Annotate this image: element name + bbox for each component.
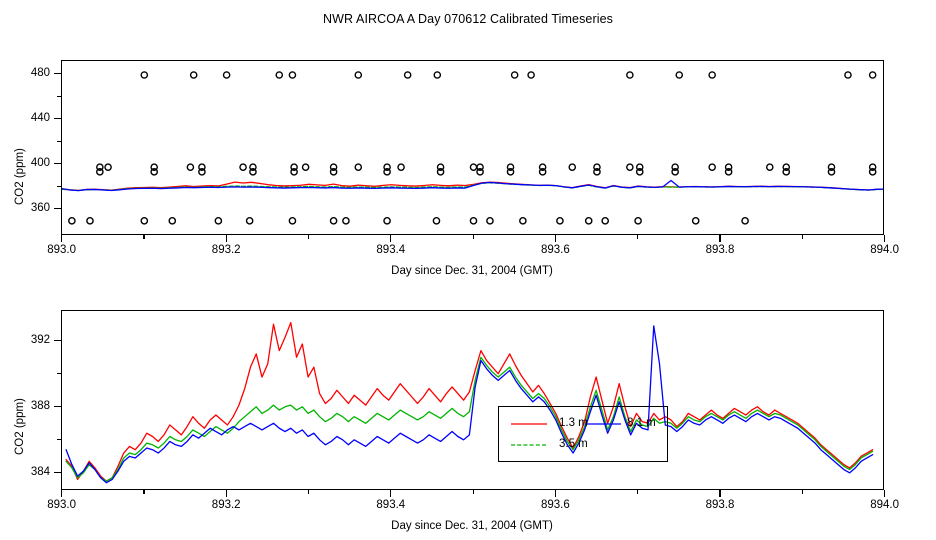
bottom-plot-svg xyxy=(62,311,884,490)
calibration-marker xyxy=(512,72,518,78)
calibration-marker xyxy=(141,218,147,224)
bottom-y-tick-label-388: 388 xyxy=(10,400,50,412)
top-x-tick-minor xyxy=(143,235,144,239)
bottom-x-tick-minor xyxy=(473,490,474,494)
top-y-tick-label-440: 440 xyxy=(10,112,50,124)
bottom-x-tick-label-5: 894.0 xyxy=(855,499,915,511)
calibration-marker xyxy=(602,218,608,224)
legend-label-2: 3.5 m xyxy=(559,438,588,450)
calibration-marker xyxy=(470,218,476,224)
bottom-x-tick-minor xyxy=(143,490,144,494)
top-x-tick-minor xyxy=(802,235,803,239)
legend-label-1: 1.3 m xyxy=(559,417,588,429)
bottom-x-tick-minor xyxy=(802,490,803,494)
calibration-marker xyxy=(69,218,75,224)
top-plot-svg xyxy=(62,61,884,235)
top-x-tick-label-2: 893.4 xyxy=(361,244,421,256)
bottom-x-tick-minor xyxy=(308,490,309,494)
bottom-x-tick-major xyxy=(719,490,720,497)
bottom-x-tick-minor xyxy=(637,490,638,494)
top-y-tick-major xyxy=(54,163,61,164)
calibration-marker xyxy=(247,218,253,224)
bottom-y-tick-major xyxy=(54,406,61,407)
top-x-tick-label-3: 893.6 xyxy=(525,244,585,256)
calibration-marker xyxy=(870,72,876,78)
top-y-tick-major xyxy=(54,118,61,119)
top-x-tick-label-1: 893.2 xyxy=(196,244,256,256)
calibration-marker xyxy=(627,72,633,78)
calibration-marker xyxy=(398,164,404,170)
legend-lines xyxy=(499,407,667,461)
calibration-marker xyxy=(557,218,563,224)
calibration-marker xyxy=(187,164,193,170)
calibration-marker xyxy=(676,72,682,78)
top-y-tick-label-480: 480 xyxy=(10,67,50,79)
calibration-marker xyxy=(709,72,715,78)
calibration-marker xyxy=(303,164,309,170)
top-plot-area xyxy=(61,60,884,235)
calibration-marker xyxy=(355,72,361,78)
bottom-x-tick-label-3: 893.6 xyxy=(525,499,585,511)
calibration-marker xyxy=(405,72,411,78)
bottom-x-tick-label-0: 893.0 xyxy=(32,499,92,511)
calibration-marker xyxy=(586,218,592,224)
bottom-x-tick-label-2: 893.4 xyxy=(361,499,421,511)
calibration-marker xyxy=(141,72,147,78)
calibration-marker xyxy=(384,218,390,224)
top-x-tick-major xyxy=(61,235,62,242)
top-x-tick-major xyxy=(226,235,227,242)
series-line-13m xyxy=(66,323,873,482)
bottom-plot-area xyxy=(61,310,884,490)
top-x-tick-major xyxy=(884,235,885,242)
calibration-marker xyxy=(289,72,295,78)
calibration-marker xyxy=(767,164,773,170)
calibration-marker xyxy=(433,218,439,224)
bottom-x-tick-major xyxy=(226,490,227,497)
bottom-x-tick-major xyxy=(61,490,62,497)
calibration-marker xyxy=(276,72,282,78)
bottom-y-tick-label-384: 384 xyxy=(10,466,50,478)
top-x-tick-major xyxy=(390,235,391,242)
calibration-marker xyxy=(693,218,699,224)
bottom-y-tick-major xyxy=(54,340,61,341)
calibration-marker xyxy=(528,72,534,78)
top-x-tick-major xyxy=(555,235,556,242)
top-y-tick-label-400: 400 xyxy=(10,157,50,169)
calibration-marker xyxy=(742,218,748,224)
legend: 1.3 m 3.5 m 8.1 m xyxy=(498,406,668,462)
calibration-marker xyxy=(224,72,230,78)
top-y-tick-label-360: 360 xyxy=(10,202,50,214)
bottom-x-tick-major xyxy=(555,490,556,497)
bottom-x-tick-label-4: 893.8 xyxy=(690,499,750,511)
top-x-tick-minor xyxy=(637,235,638,239)
calibration-marker xyxy=(355,164,361,170)
top-x-tick-minor xyxy=(473,235,474,239)
calibration-marker xyxy=(191,72,197,78)
calibration-marker xyxy=(240,164,246,170)
calibration-marker xyxy=(105,164,111,170)
legend-label-3: 8.1 m xyxy=(627,417,656,429)
calibration-marker xyxy=(470,164,476,170)
calibration-marker xyxy=(845,72,851,78)
calibration-marker xyxy=(289,218,295,224)
calibration-marker xyxy=(569,164,575,170)
chart-page: NWR AIRCOA A Day 070612 Calibrated Times… xyxy=(0,0,936,540)
top-x-tick-minor xyxy=(308,235,309,239)
calibration-marker xyxy=(520,218,526,224)
bottom-x-tick-major xyxy=(884,490,885,497)
top-x-tick-label-5: 894.0 xyxy=(855,244,915,256)
bottom-y-tick-major xyxy=(54,472,61,473)
calibration-marker xyxy=(330,218,336,224)
top-x-tick-label-0: 893.0 xyxy=(32,244,92,256)
calibration-marker xyxy=(87,218,93,224)
top-y-tick-major xyxy=(54,208,61,209)
top-x-tick-major xyxy=(719,235,720,242)
calibration-marker xyxy=(635,218,641,224)
top-x-tick-label-4: 893.8 xyxy=(690,244,750,256)
calibration-marker xyxy=(215,218,221,224)
top-panel-x-axis-title: Day since Dec. 31, 2004 (GMT) xyxy=(272,265,672,277)
series-line-35m xyxy=(66,357,873,481)
bottom-x-tick-major xyxy=(390,490,391,497)
bottom-panel-x-axis-title: Day since Dec. 31, 2004 (GMT) xyxy=(272,520,672,532)
calibration-marker xyxy=(169,218,175,224)
top-y-tick-major xyxy=(54,73,61,74)
series-line-81m xyxy=(66,326,873,483)
calibration-marker xyxy=(487,218,493,224)
bottom-x-tick-label-1: 893.2 xyxy=(196,499,256,511)
calibration-marker xyxy=(709,164,715,170)
calibration-marker xyxy=(434,72,440,78)
bottom-y-tick-label-392: 392 xyxy=(10,334,50,346)
calibration-marker xyxy=(343,218,349,224)
calibration-marker xyxy=(627,164,633,170)
page-title: NWR AIRCOA A Day 070612 Calibrated Times… xyxy=(0,12,936,26)
